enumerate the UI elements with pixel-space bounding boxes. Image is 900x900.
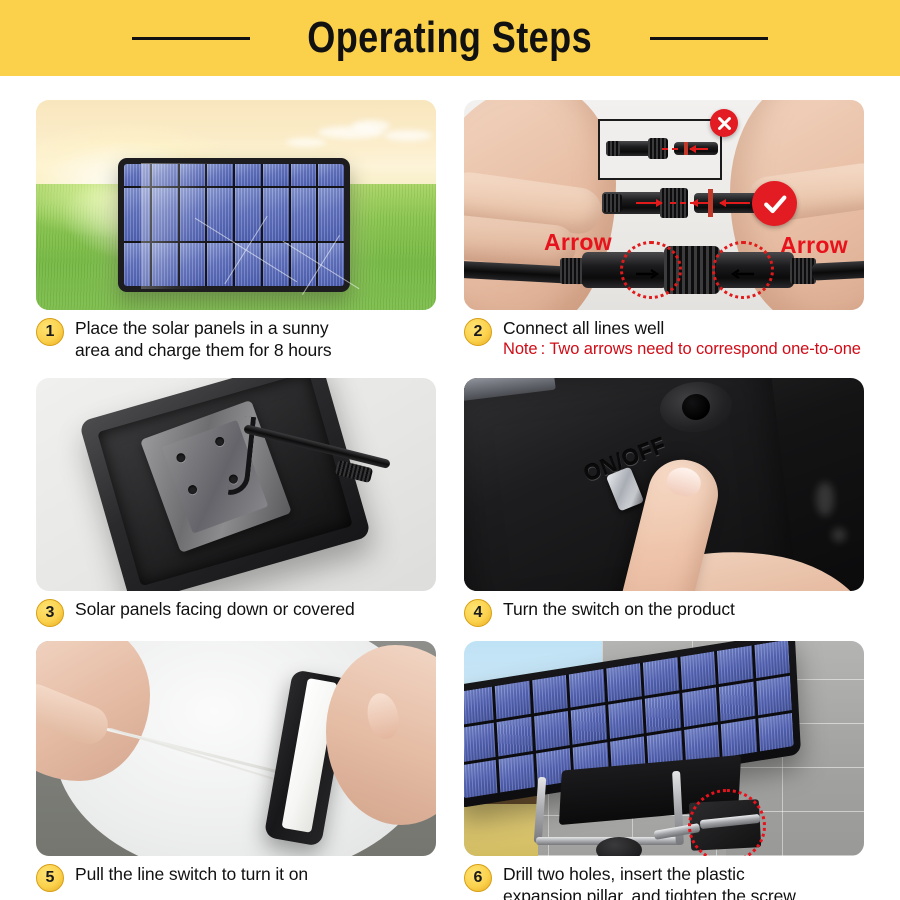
header-inner: Operating Steps bbox=[0, 16, 900, 60]
step-6-line1: Drill two holes, insert the plastic bbox=[503, 864, 745, 884]
step-2-text: Connect all lines well Note : Two arrows… bbox=[503, 317, 861, 361]
step-4-caption: 4 Turn the switch on the product bbox=[464, 591, 864, 641]
alignment-dash bbox=[662, 148, 678, 150]
bracket-hole bbox=[214, 436, 226, 448]
solar-panel bbox=[118, 158, 350, 292]
adjustment-knob bbox=[596, 837, 642, 856]
solar-cells bbox=[124, 164, 344, 286]
step-5-text: Pull the line switch to turn it on bbox=[75, 863, 308, 885]
step-1-line1: Place the solar panels in a sunny bbox=[75, 318, 329, 338]
page-header: Operating Steps bbox=[0, 0, 900, 76]
incorrect-example-inset bbox=[598, 119, 722, 180]
step-6-caption: 6 Drill two holes, insert the plastic ex… bbox=[464, 856, 864, 900]
connector-red-ring bbox=[708, 189, 713, 217]
step-2-note: Note : Two arrows need to correspond one… bbox=[503, 339, 861, 360]
step-6-line2: expansion pillar, and tighten the screw bbox=[503, 885, 796, 900]
red-arrow-left-icon bbox=[692, 202, 708, 204]
step-2-image: Arrow Arrow bbox=[464, 100, 864, 310]
specular-highlight bbox=[832, 528, 846, 542]
step-2-badge: 2 bbox=[464, 318, 492, 346]
step-5-badge: 5 bbox=[36, 864, 64, 892]
thumb bbox=[364, 690, 403, 741]
step-1-image bbox=[36, 100, 436, 310]
connector-ridges bbox=[602, 194, 622, 212]
page-title: Operating Steps bbox=[308, 16, 593, 60]
step-2-line1: Connect all lines well bbox=[503, 318, 664, 338]
step-5-image bbox=[36, 641, 436, 856]
cable-right bbox=[812, 260, 864, 280]
steps-grid: Arrow Arrow 1 Place the solar panels in bbox=[36, 100, 864, 890]
header-rule-right-icon bbox=[650, 37, 768, 40]
step-2-caption: 2 Connect all lines well Note : Two arro… bbox=[464, 310, 864, 378]
connector-ridges bbox=[606, 141, 620, 156]
red-arrow-left-icon bbox=[720, 202, 750, 204]
red-arrow-left-icon bbox=[690, 148, 708, 150]
step-1-line2: area and charge them for 8 hours bbox=[75, 339, 332, 361]
operating-steps-page: Operating Steps bbox=[0, 0, 900, 900]
step-3-badge: 3 bbox=[36, 599, 64, 627]
step-4-badge: 4 bbox=[464, 599, 492, 627]
correct-check-icon bbox=[752, 181, 797, 226]
cloud-icon bbox=[384, 130, 432, 141]
step-1-badge: 1 bbox=[36, 318, 64, 346]
black-arrow-left-icon bbox=[728, 266, 754, 284]
step-6-text: Drill two holes, insert the plastic expa… bbox=[503, 863, 796, 900]
red-arrow-right-icon bbox=[636, 202, 662, 204]
step-6-badge: 6 bbox=[464, 864, 492, 892]
step-4-text: Turn the switch on the product bbox=[503, 598, 735, 620]
header-rule-left-icon bbox=[132, 37, 250, 40]
solar-panel-back bbox=[79, 378, 372, 591]
finger bbox=[36, 678, 114, 749]
step-1-text: Place the solar panels in a sunny area a… bbox=[75, 317, 332, 362]
black-arrow-right-icon bbox=[636, 266, 662, 284]
incorrect-x-icon bbox=[710, 109, 738, 137]
fingernail bbox=[664, 464, 704, 499]
cloud-icon bbox=[286, 138, 326, 147]
bracket-hole bbox=[175, 452, 187, 464]
step-5-caption: 5 Pull the line switch to turn it on bbox=[36, 856, 436, 900]
bracket-hole bbox=[187, 484, 199, 496]
specular-highlight bbox=[816, 482, 834, 516]
step-3-text: Solar panels facing down or covered bbox=[75, 598, 355, 620]
cloud-icon bbox=[352, 120, 390, 132]
sensor-lens bbox=[681, 393, 712, 422]
step-6-image bbox=[464, 641, 864, 856]
screw-highlight-circle bbox=[688, 789, 766, 856]
step-3-caption: 3 Solar panels facing down or covered bbox=[36, 591, 436, 641]
step-1-caption: 1 Place the solar panels in a sunny area… bbox=[36, 310, 436, 378]
step-3-image bbox=[36, 378, 436, 591]
step-4-image: ON/OFF bbox=[464, 378, 864, 591]
connector-red-ring bbox=[684, 142, 688, 155]
